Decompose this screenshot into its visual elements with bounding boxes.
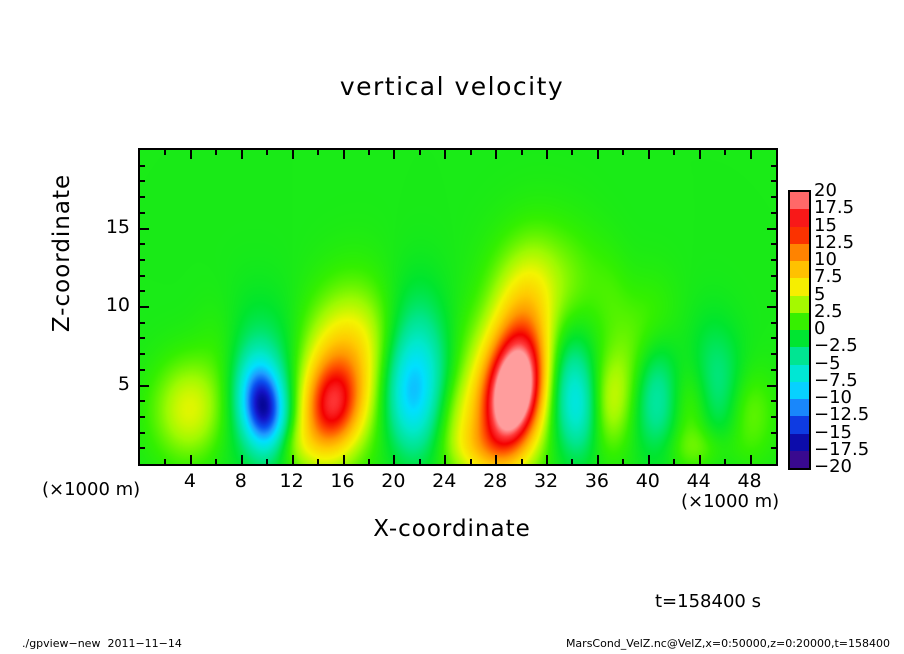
y-tick-label: 15: [96, 216, 130, 238]
y-tick-label: 5: [96, 373, 130, 395]
x-tick-top-46: [724, 150, 726, 155]
x-tick-top-12: [292, 150, 294, 159]
y-tick-right-1: [771, 447, 776, 449]
footer-datasource: MarsCond_VelZ.nc@VelZ,x=0:50000,z=0:2000…: [566, 637, 890, 650]
y-tick-right-6: [771, 369, 776, 371]
colorbar-band: [790, 382, 809, 399]
y-tick-14: [140, 243, 145, 245]
y-tick-2: [140, 432, 145, 434]
x-tick-top-18: [368, 150, 370, 155]
colorbar-band: [790, 365, 809, 382]
colorbar-band: [790, 399, 809, 416]
x-tick-top-32: [546, 150, 548, 159]
y-tick-right-4: [771, 400, 776, 402]
x-tick-28: [495, 455, 497, 464]
x-tick-top-6: [215, 150, 217, 155]
colorbar-band: [790, 261, 809, 278]
x-tick-42: [673, 459, 675, 464]
y-tick-right-14: [771, 243, 776, 245]
x-tick-20: [393, 455, 395, 464]
y-tick-right-15: [767, 228, 776, 230]
colorbar-band: [790, 434, 809, 451]
x-tick-40: [648, 455, 650, 464]
y-tick-1: [140, 447, 145, 449]
x-tick-top-36: [597, 150, 599, 159]
x-tick-14: [317, 459, 319, 464]
x-tick-top-30: [521, 150, 523, 155]
x-tick-top-26: [470, 150, 472, 155]
x-tick-26: [470, 459, 472, 464]
y-tick-12: [140, 275, 145, 277]
x-tick-16: [343, 455, 345, 464]
y-axis-title: Z-coordinate: [49, 143, 75, 363]
colorbar-band: [790, 227, 809, 244]
x-tick-46: [724, 459, 726, 464]
colorbar-tick-label: −20: [814, 456, 852, 477]
y-tick-right-18: [771, 180, 776, 182]
x-axis-title: X-coordinate: [0, 516, 904, 542]
x-tick-top-22: [419, 150, 421, 155]
y-tick-right-17: [771, 196, 776, 198]
x-tick-top-48: [750, 150, 752, 159]
colorbar-band: [790, 244, 809, 261]
x-tick-32: [546, 455, 548, 464]
x-tick-label: 48: [720, 470, 780, 492]
footer-command: ./gpview−new 2011−11−14: [22, 637, 182, 650]
y-tick-right-7: [771, 353, 776, 355]
x-tick-30: [521, 459, 523, 464]
colorbar-band: [790, 192, 809, 209]
x-tick-top-4: [190, 150, 192, 159]
page-title: vertical velocity: [0, 72, 904, 101]
y-tick-17: [140, 196, 145, 198]
y-tick-16: [140, 212, 145, 214]
y-tick-label: 10: [96, 294, 130, 316]
x-axis-unit: (×1000 m): [681, 491, 779, 512]
y-tick-9: [140, 322, 145, 324]
x-tick-top-10: [266, 150, 268, 155]
x-tick-6: [215, 459, 217, 464]
x-tick-34: [571, 459, 573, 464]
x-tick-48: [750, 455, 752, 464]
x-tick-top-40: [648, 150, 650, 159]
x-tick-12: [292, 455, 294, 464]
colorbar-band: [790, 209, 809, 226]
y-tick-11: [140, 290, 145, 292]
x-tick-top-14: [317, 150, 319, 155]
y-tick-3: [140, 416, 145, 418]
y-tick-right-13: [771, 259, 776, 261]
x-tick-10: [266, 459, 268, 464]
x-tick-top-38: [622, 150, 624, 155]
y-tick-right-19: [771, 165, 776, 167]
y-tick-13: [140, 259, 145, 261]
plot-page: vertical velocity 4812162024283236404448…: [0, 0, 904, 654]
x-tick-44: [699, 455, 701, 464]
colorbar: [788, 190, 811, 470]
y-tick-6: [140, 369, 145, 371]
x-tick-top-34: [571, 150, 573, 155]
x-tick-2: [164, 459, 166, 464]
colorbar-band: [790, 416, 809, 433]
time-annotation: t=158400 s: [655, 591, 761, 612]
y-tick-right-9: [771, 322, 776, 324]
y-tick-right-12: [771, 275, 776, 277]
x-tick-22: [419, 459, 421, 464]
x-tick-top-44: [699, 150, 701, 159]
y-tick-7: [140, 353, 145, 355]
colorbar-band: [790, 347, 809, 364]
x-tick-24: [444, 455, 446, 464]
y-tick-right-8: [771, 337, 776, 339]
y-tick-4: [140, 400, 145, 402]
x-tick-top-20: [393, 150, 395, 159]
x-tick-4: [190, 455, 192, 464]
y-tick-right-11: [771, 290, 776, 292]
y-tick-10: [140, 306, 149, 308]
x-tick-top-24: [444, 150, 446, 159]
y-tick-15: [140, 228, 149, 230]
x-tick-36: [597, 455, 599, 464]
x-tick-18: [368, 459, 370, 464]
x-tick-8: [241, 455, 243, 464]
colorbar-band: [790, 278, 809, 295]
y-axis-unit: (×1000 m): [42, 479, 140, 500]
x-tick-top-42: [673, 150, 675, 155]
colorbar-band: [790, 451, 809, 468]
x-tick-38: [622, 459, 624, 464]
x-tick-top-2: [164, 150, 166, 155]
contour-plot-area: [138, 148, 778, 466]
y-tick-right-10: [767, 306, 776, 308]
x-tick-top-16: [343, 150, 345, 159]
contour-field-canvas: [140, 150, 776, 464]
y-tick-right-2: [771, 432, 776, 434]
x-tick-top-8: [241, 150, 243, 159]
y-tick-8: [140, 337, 145, 339]
y-tick-18: [140, 180, 145, 182]
y-tick-right-3: [771, 416, 776, 418]
colorbar-band: [790, 313, 809, 330]
y-tick-5: [140, 385, 149, 387]
y-tick-right-16: [771, 212, 776, 214]
y-tick-right-5: [767, 385, 776, 387]
x-tick-top-28: [495, 150, 497, 159]
colorbar-band: [790, 296, 809, 313]
y-tick-19: [140, 165, 145, 167]
colorbar-band: [790, 330, 809, 347]
